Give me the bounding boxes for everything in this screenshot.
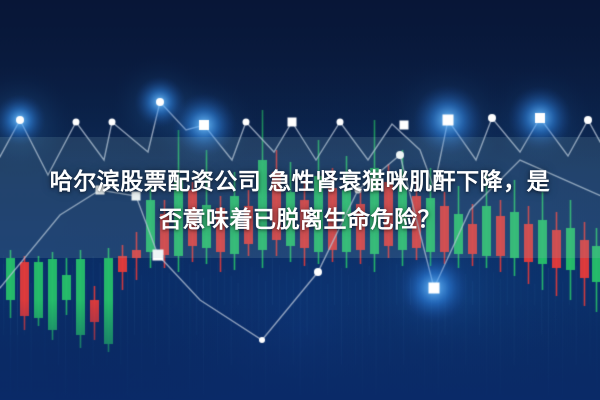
candlestick-chart-background (0, 0, 600, 400)
banner-root: 哈尔滨股票配资公司 急性肾衰猫咪肌酐下降，是 否意味着已脱离生命危险？ (0, 0, 600, 400)
